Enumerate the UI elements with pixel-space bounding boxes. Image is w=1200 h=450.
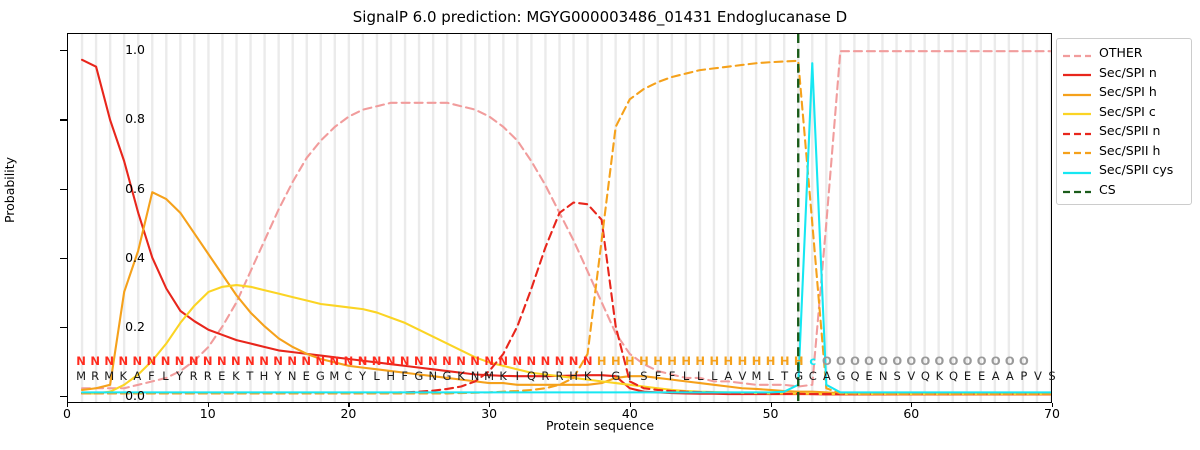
sequence-region-label: N: [567, 355, 581, 368]
y-axis-tick-label: 0.8: [85, 111, 145, 126]
sequence-residue-label: Q: [918, 370, 932, 383]
y-axis-tick-mark: [60, 119, 67, 120]
sequence-residue-label: K: [496, 370, 510, 383]
sequence-residue-label: Y: [271, 370, 285, 383]
y-axis-tick-mark: [60, 258, 67, 259]
sequence-region-label: N: [468, 355, 482, 368]
sequence-residue-label: K: [932, 370, 946, 383]
sequence-residue-label: M: [74, 370, 88, 383]
sequence-region-label: O: [947, 355, 961, 368]
sequence-residue-label: R: [538, 370, 552, 383]
sequence-region-label: O: [876, 355, 890, 368]
plot-area: [67, 33, 1052, 403]
legend-item-other[interactable]: OTHER: [1062, 43, 1186, 63]
sequence-region-label: O: [918, 355, 932, 368]
sequence-residue-label: G: [792, 370, 806, 383]
chart-canvas: [68, 34, 1051, 402]
sequence-residue-label: L: [693, 370, 707, 383]
sequence-region-label: H: [707, 355, 721, 368]
sequence-residue-label: T: [243, 370, 257, 383]
sequence-residue-label: Q: [848, 370, 862, 383]
sequence-residue-label: E: [961, 370, 975, 383]
sequence-region-label: N: [144, 355, 158, 368]
sequence-residue-label: R: [88, 370, 102, 383]
sequence-residue-label: T: [778, 370, 792, 383]
legend-item-label: Sec/SPII n: [1099, 123, 1160, 138]
sequence-region-label: N: [173, 355, 187, 368]
sequence-residue-label: M: [327, 370, 341, 383]
sequence-residue-label: G: [440, 370, 454, 383]
legend-item-label: Sec/SPI n: [1099, 65, 1157, 80]
sequence-residue-label: H: [384, 370, 398, 383]
sequence-residue-label: L: [679, 370, 693, 383]
legend-item-label: CS: [1099, 182, 1116, 197]
sequence-region-label: N: [299, 355, 313, 368]
legend-line-swatch: [1062, 183, 1092, 195]
y-axis-tick-mark: [60, 50, 67, 51]
sequence-residue-label: K: [581, 370, 595, 383]
chart-legend: OTHERSec/SPI nSec/SPI hSec/SPI cSec/SPII…: [1056, 38, 1192, 205]
sequence-residue-label: G: [834, 370, 848, 383]
sequence-residue-label: F: [144, 370, 158, 383]
x-axis-tick-mark: [1052, 403, 1053, 407]
sequence-residue-label: A: [989, 370, 1003, 383]
sequence-region-label: N: [482, 355, 496, 368]
sequence-region-label: H: [792, 355, 806, 368]
sequence-region-label: N: [496, 355, 510, 368]
sequence-residue-label: C: [806, 370, 820, 383]
x-axis-tick-label: 30: [469, 406, 509, 421]
sequence-residue-label: E: [215, 370, 229, 383]
sequence-region-label: H: [693, 355, 707, 368]
sequence-region-label: N: [229, 355, 243, 368]
sequence-residue-label: A: [130, 370, 144, 383]
legend-item-sec-spii-h[interactable]: Sec/SPII h: [1062, 141, 1186, 161]
sequence-region-label: O: [904, 355, 918, 368]
y-axis-tick-mark: [60, 189, 67, 190]
sequence-residue-label: M: [102, 370, 116, 383]
sequence-residue-label: R: [201, 370, 215, 383]
legend-line-swatch: [1062, 86, 1092, 98]
sequence-region-label: N: [313, 355, 327, 368]
x-axis-label: Protein sequence: [0, 418, 1200, 433]
sequence-region-label: N: [510, 355, 524, 368]
sequence-residue-label: H: [257, 370, 271, 383]
sequence-region-label: H: [623, 355, 637, 368]
y-axis-tick-label: 0.6: [85, 181, 145, 196]
sequence-region-label: H: [595, 355, 609, 368]
sequence-residue-label: L: [707, 370, 721, 383]
sequence-residue-label: I: [510, 370, 524, 383]
sequence-region-label: O: [1003, 355, 1017, 368]
legend-item-label: Sec/SPI c: [1099, 104, 1156, 119]
sequence-residue-label: G: [313, 370, 327, 383]
sequence-residue-label: L: [370, 370, 384, 383]
sequence-residue-label: Y: [173, 370, 187, 383]
x-axis-tick-label: 60: [891, 406, 931, 421]
sequence-region-label: O: [975, 355, 989, 368]
sequence-residue-label: M: [482, 370, 496, 383]
sequence-residue-label: N: [468, 370, 482, 383]
x-axis-tick-mark: [208, 403, 209, 407]
sequence-residue-label: F: [651, 370, 665, 383]
sequence-region-label: N: [243, 355, 257, 368]
sequence-region-label: N: [327, 355, 341, 368]
legend-item-label: Sec/SPII h: [1099, 143, 1160, 158]
sequence-region-label: H: [679, 355, 693, 368]
sequence-region-label: H: [609, 355, 623, 368]
sequence-residue-label: N: [285, 370, 299, 383]
legend-item-sec-spii-cys[interactable]: Sec/SPII cys: [1062, 160, 1186, 180]
sequence-region-label: N: [271, 355, 285, 368]
sequence-region-label: N: [215, 355, 229, 368]
sequence-residue-label: G: [412, 370, 426, 383]
sequence-residue-label: R: [553, 370, 567, 383]
sequence-residue-label: L: [159, 370, 173, 383]
sequence-residue-label: M: [750, 370, 764, 383]
legend-item-sec-spi-c[interactable]: Sec/SPI c: [1062, 102, 1186, 122]
sequence-region-label: N: [440, 355, 454, 368]
sequence-region-label: c: [806, 355, 820, 368]
sequence-region-label: O: [820, 355, 834, 368]
sequence-residue-label: K: [116, 370, 130, 383]
y-axis-tick-label: 0.0: [85, 388, 145, 403]
sequence-region-label: N: [398, 355, 412, 368]
sequence-region-label: N: [412, 355, 426, 368]
sequence-region-label: O: [862, 355, 876, 368]
sequence-residue-label: V: [1031, 370, 1045, 383]
sequence-region-label: N: [88, 355, 102, 368]
sequence-residue-label: N: [876, 370, 890, 383]
sequence-residue-label: Y: [356, 370, 370, 383]
sequence-residue-label: A: [721, 370, 735, 383]
sequence-region-label: N: [102, 355, 116, 368]
y-axis-tick-mark: [60, 327, 67, 328]
sequence-residue-label: K: [454, 370, 468, 383]
x-axis-tick-label: 70: [1032, 406, 1072, 421]
sequence-region-label: O: [890, 355, 904, 368]
x-axis-tick-label: 50: [751, 406, 791, 421]
sequence-residue-label: V: [735, 370, 749, 383]
sequence-residue-label: I: [595, 370, 609, 383]
y-axis-tick-label: 1.0: [85, 42, 145, 57]
x-axis-tick-mark: [67, 403, 68, 407]
sequence-residue-label: S: [637, 370, 651, 383]
y-axis-tick-mark: [60, 396, 67, 397]
sequence-region-label: N: [201, 355, 215, 368]
sequence-region-label: N: [187, 355, 201, 368]
sequence-residue-label: S: [1045, 370, 1059, 383]
sequence-residue-label: R: [187, 370, 201, 383]
sequence-region-label: N: [285, 355, 299, 368]
x-axis-tick-mark: [630, 403, 631, 407]
legend-line-swatch: [1062, 105, 1092, 117]
sequence-region-label: O: [848, 355, 862, 368]
sequence-residue-label: A: [1003, 370, 1017, 383]
sequence-residue-label: S: [890, 370, 904, 383]
sequence-residue-label: E: [862, 370, 876, 383]
sequence-region-label: N: [130, 355, 144, 368]
legend-item-cs[interactable]: CS: [1062, 180, 1186, 200]
grid-lines: [82, 34, 1051, 402]
sequence-region-label: H: [735, 355, 749, 368]
x-axis-tick-mark: [489, 403, 490, 407]
sequence-residue-label: A: [820, 370, 834, 383]
sequence-region-label: N: [454, 355, 468, 368]
legend-item-label: Sec/SPI h: [1099, 84, 1157, 99]
sequence-residue-label: F: [665, 370, 679, 383]
sequence-region-label: N: [74, 355, 88, 368]
x-axis-tick-label: 20: [328, 406, 368, 421]
sequence-region-label: N: [538, 355, 552, 368]
sequence-region-label: N: [159, 355, 173, 368]
x-axis-tick-label: 10: [188, 406, 228, 421]
sequence-residue-label: N: [426, 370, 440, 383]
x-axis-tick-label: 40: [610, 406, 650, 421]
legend-line-swatch: [1062, 66, 1092, 78]
sequence-region-label: H: [721, 355, 735, 368]
sequence-region-label: H: [637, 355, 651, 368]
sequence-residue-label: K: [229, 370, 243, 383]
sequence-residue-label: Q: [947, 370, 961, 383]
sequence-residue-label: L: [764, 370, 778, 383]
sequence-region-label: H: [778, 355, 792, 368]
sequence-residue-label: E: [299, 370, 313, 383]
sequence-region-label: O: [932, 355, 946, 368]
sequence-region-label: N: [553, 355, 567, 368]
legend-item-sec-spi-n[interactable]: Sec/SPI n: [1062, 63, 1186, 83]
sequence-region-label: N: [257, 355, 271, 368]
sequence-residue-label: Q: [524, 370, 538, 383]
sequence-region-label: N: [384, 355, 398, 368]
sequence-residue-label: H: [567, 370, 581, 383]
legend-item-label: OTHER: [1099, 45, 1142, 60]
sequence-region-label: N: [426, 355, 440, 368]
sequence-region-label: N: [341, 355, 355, 368]
legend-line-swatch: [1062, 164, 1092, 176]
sequence-region-label: N: [524, 355, 538, 368]
sequence-region-label: N: [370, 355, 384, 368]
sequence-residue-label: G: [609, 370, 623, 383]
sequence-residue-label: C: [341, 370, 355, 383]
sequence-region-label: H: [665, 355, 679, 368]
sequence-region-label: N: [581, 355, 595, 368]
y-axis-tick-label: 0.2: [85, 319, 145, 334]
x-axis-tick-mark: [771, 403, 772, 407]
signalp-prediction-figure: SignalP 6.0 prediction: MGYG000003486_01…: [0, 0, 1200, 450]
y-axis-label-text: Probability: [2, 120, 17, 260]
sequence-residue-label: P: [1017, 370, 1031, 383]
chart-title: SignalP 6.0 prediction: MGYG000003486_01…: [0, 8, 1200, 26]
legend-item-sec-spi-h[interactable]: Sec/SPI h: [1062, 82, 1186, 102]
sequence-region-label: H: [651, 355, 665, 368]
sequence-region-label: H: [764, 355, 778, 368]
sequence-residue-label: V: [904, 370, 918, 383]
sequence-region-label: O: [961, 355, 975, 368]
y-axis-tick-label: 0.4: [85, 250, 145, 265]
legend-item-sec-spii-n[interactable]: Sec/SPII n: [1062, 121, 1186, 141]
x-axis-tick-label: 0: [47, 406, 87, 421]
sequence-region-label: O: [989, 355, 1003, 368]
sequence-residue-label: I: [623, 370, 637, 383]
sequence-region-label: O: [834, 355, 848, 368]
legend-line-swatch: [1062, 125, 1092, 137]
legend-line-swatch: [1062, 47, 1092, 59]
sequence-region-label: N: [116, 355, 130, 368]
sequence-residue-label: E: [975, 370, 989, 383]
legend-item-label: Sec/SPII cys: [1099, 162, 1173, 177]
sequence-region-label: N: [356, 355, 370, 368]
sequence-residue-label: F: [398, 370, 412, 383]
x-axis-tick-mark: [348, 403, 349, 407]
sequence-region-label: O: [1017, 355, 1031, 368]
x-axis-tick-mark: [911, 403, 912, 407]
sequence-region-label: H: [750, 355, 764, 368]
legend-line-swatch: [1062, 144, 1092, 156]
